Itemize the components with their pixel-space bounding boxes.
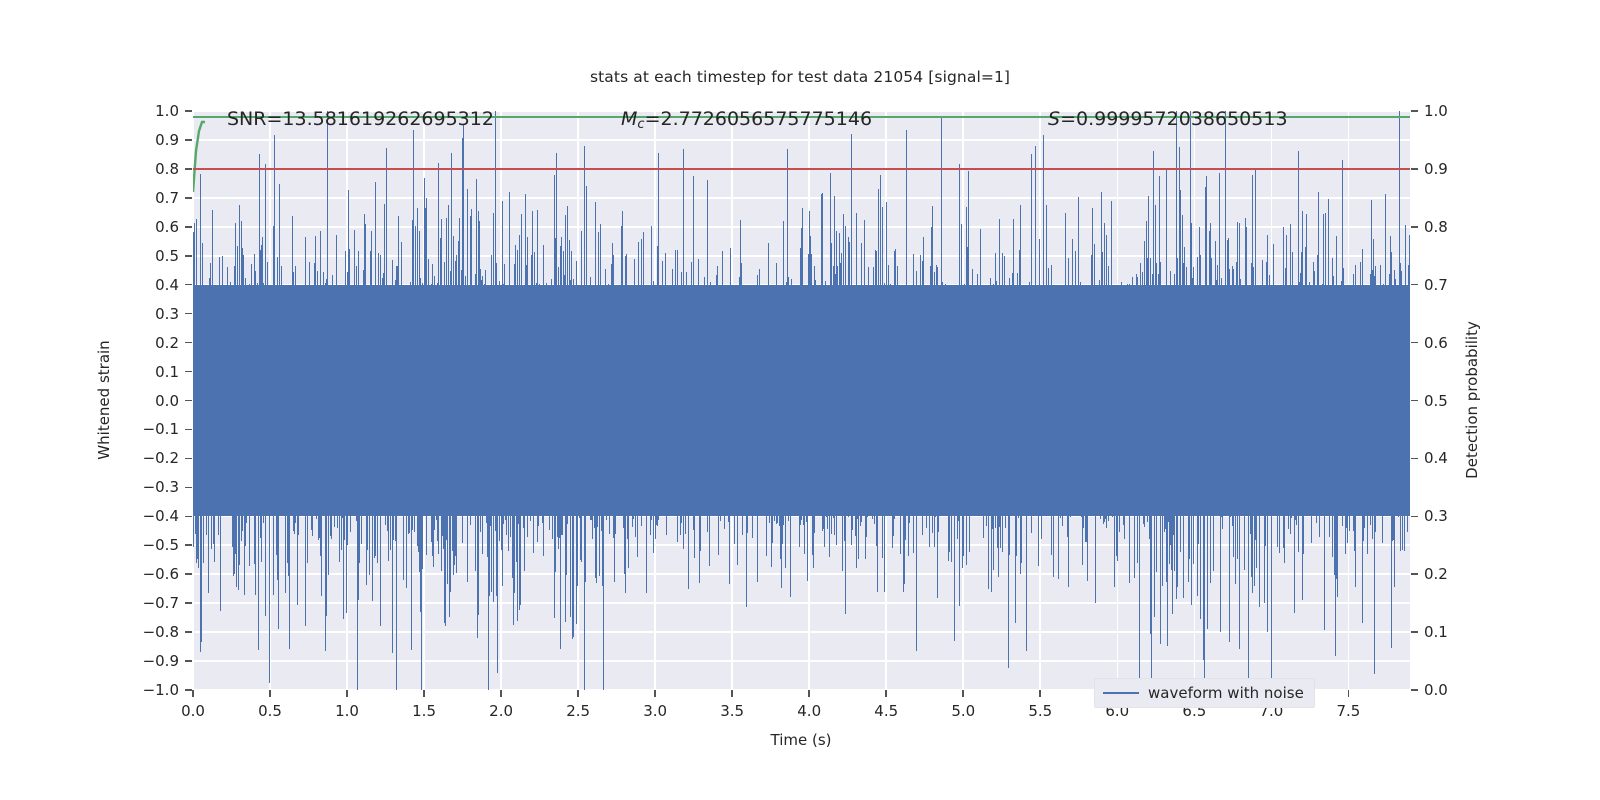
x-axis-tick-mark bbox=[577, 690, 579, 697]
x-axis-tick-mark bbox=[808, 690, 810, 697]
y-axis-left-tick-label: −0.9 bbox=[123, 652, 179, 670]
s-label: S bbox=[1048, 111, 1060, 130]
x-axis-tick-label: 1.5 bbox=[412, 702, 436, 720]
y-axis-left-tick-mark bbox=[185, 429, 192, 431]
y-axis-right-tick-label: 0.4 bbox=[1424, 449, 1448, 467]
y-axis-left-tick-label: 0.9 bbox=[123, 131, 179, 149]
y-axis-right-tick-label: 0.0 bbox=[1424, 681, 1448, 699]
x-axis-tick-label: 4.5 bbox=[874, 702, 898, 720]
y-axis-left-tick-mark bbox=[185, 602, 192, 604]
y-axis-left-tick-label: −1.0 bbox=[123, 681, 179, 699]
x-axis-tick-mark bbox=[654, 690, 656, 697]
y-axis-right-tick-label: 0.6 bbox=[1424, 334, 1448, 352]
snr-label: SNR= bbox=[227, 111, 282, 130]
y-axis-left-tick-mark bbox=[185, 255, 192, 257]
y-axis-left-tick-label: −0.3 bbox=[123, 478, 179, 496]
y-axis-left-tick-label: −0.2 bbox=[123, 449, 179, 467]
y-axis-right-tick-label: 0.2 bbox=[1424, 565, 1448, 583]
x-axis-tick-label: 4.0 bbox=[797, 702, 821, 720]
y-axis-left-tick-label: −0.8 bbox=[123, 623, 179, 641]
y-axis-left-tick-label: 0.3 bbox=[123, 305, 179, 323]
y-axis-left-tick-mark bbox=[185, 110, 192, 112]
x-axis-tick-label: 3.5 bbox=[720, 702, 744, 720]
y-axis-right-label: Detection probability bbox=[1463, 321, 1481, 479]
s-equals: = bbox=[1060, 111, 1076, 130]
x-axis-tick-label: 5.5 bbox=[1028, 702, 1052, 720]
x-axis-tick-label: 7.5 bbox=[1336, 702, 1360, 720]
y-axis-left-tick-label: −0.4 bbox=[123, 507, 179, 525]
y-axis-right-tick-label: 0.8 bbox=[1424, 218, 1448, 236]
plot-area[interactable]: SNR=13.581619262695312 Mc=2.772605657577… bbox=[193, 111, 1410, 690]
x-axis-tick-label: 0.5 bbox=[258, 702, 282, 720]
x-axis-tick-label: 1.0 bbox=[335, 702, 359, 720]
s-value: 0.9999572038650513 bbox=[1076, 111, 1288, 130]
y-axis-right-tick-mark bbox=[1411, 458, 1418, 460]
y-axis-left-tick-mark bbox=[185, 544, 192, 546]
y-axis-right-tick-mark bbox=[1411, 400, 1418, 402]
y-axis-left-tick-label: −0.6 bbox=[123, 565, 179, 583]
y-axis-left-tick-label: 0.6 bbox=[123, 218, 179, 236]
y-axis-left-tick-label: 0.8 bbox=[123, 160, 179, 178]
y-axis-left-tick-mark bbox=[185, 139, 192, 141]
annotation-chirp-mass: Mc=2.7726056575775146 bbox=[621, 111, 872, 132]
y-axis-left-tick-mark bbox=[185, 371, 192, 373]
y-axis-left-tick-mark bbox=[185, 342, 192, 344]
annotation-score: S=0.9999572038650513 bbox=[1048, 111, 1288, 130]
y-axis-left-label: Whitened strain bbox=[95, 340, 113, 459]
threshold-line bbox=[193, 168, 1410, 170]
y-axis-left-tick-label: 0.2 bbox=[123, 334, 179, 352]
y-axis-left-tick-mark bbox=[185, 573, 192, 575]
y-axis-left-tick-mark bbox=[185, 487, 192, 489]
x-axis-tick-mark bbox=[962, 690, 964, 697]
y-axis-left-tick-label: 0.7 bbox=[123, 189, 179, 207]
y-axis-right-tick-label: 0.9 bbox=[1424, 160, 1448, 178]
x-axis-tick-mark bbox=[1348, 690, 1350, 697]
y-axis-right-tick-mark bbox=[1411, 516, 1418, 518]
y-axis-left-tick-label: −0.7 bbox=[123, 594, 179, 612]
y-axis-left-tick-mark bbox=[185, 197, 192, 199]
y-axis-left-tick-label: 0.0 bbox=[123, 392, 179, 410]
waveform-sample bbox=[1409, 235, 1410, 517]
mc-subscript: c bbox=[637, 117, 644, 132]
y-axis-left-tick-mark bbox=[185, 689, 192, 691]
x-axis-tick-mark bbox=[731, 690, 733, 697]
y-axis-left-tick-label: 0.4 bbox=[123, 276, 179, 294]
y-axis-left-tick-label: −0.1 bbox=[123, 420, 179, 438]
x-axis-tick-mark bbox=[269, 690, 271, 697]
y-axis-right-tick-mark bbox=[1411, 168, 1418, 170]
x-axis-tick-mark bbox=[500, 690, 502, 697]
y-axis-right-tick-mark bbox=[1411, 226, 1418, 228]
annotation-snr: SNR=13.581619262695312 bbox=[227, 111, 494, 130]
y-axis-left-tick-mark bbox=[185, 313, 192, 315]
y-axis-right-tick-label: 0.3 bbox=[1424, 507, 1448, 525]
y-axis-right-tick-label: 0.1 bbox=[1424, 623, 1448, 641]
mc-value: 2.7726056575775146 bbox=[660, 111, 872, 130]
y-axis-right-tick-mark bbox=[1411, 342, 1418, 344]
x-axis-tick-label: 2.0 bbox=[489, 702, 513, 720]
y-axis-left-tick-mark bbox=[185, 516, 192, 518]
x-axis-tick-label: 2.5 bbox=[566, 702, 590, 720]
y-axis-left-tick-label: 1.0 bbox=[123, 102, 179, 120]
y-axis-left-tick-mark bbox=[185, 660, 192, 662]
y-axis-left-tick-mark bbox=[185, 284, 192, 286]
y-axis-left-tick-mark bbox=[185, 400, 192, 402]
y-axis-left-tick-label: 0.1 bbox=[123, 363, 179, 381]
mc-equals: = bbox=[645, 111, 661, 130]
x-axis-label: Time (s) bbox=[771, 731, 832, 749]
mc-label: M bbox=[621, 111, 637, 130]
y-axis-right-tick-mark bbox=[1411, 631, 1418, 633]
snr-value: 13.581619262695312 bbox=[282, 111, 494, 130]
figure: stats at each timestep for test data 210… bbox=[0, 0, 1600, 800]
x-axis-tick-mark bbox=[192, 690, 194, 697]
y-axis-right-tick-mark bbox=[1411, 573, 1418, 575]
y-axis-left-tick-label: 0.5 bbox=[123, 247, 179, 265]
y-axis-right-tick-label: 0.5 bbox=[1424, 392, 1448, 410]
y-axis-right-tick-mark bbox=[1411, 284, 1418, 286]
x-axis-tick-label: 0.0 bbox=[181, 702, 205, 720]
x-axis-tick-mark bbox=[423, 690, 425, 697]
y-axis-right-tick-mark bbox=[1411, 110, 1418, 112]
legend-label-waveform: waveform with noise bbox=[1148, 684, 1304, 702]
detection-probability-ramp bbox=[193, 111, 213, 690]
x-axis-tick-label: 3.0 bbox=[643, 702, 667, 720]
y-axis-left-tick-mark bbox=[185, 226, 192, 228]
y-axis-left-tick-mark bbox=[185, 168, 192, 170]
x-axis-tick-mark bbox=[885, 690, 887, 697]
x-axis-tick-label: 5.0 bbox=[951, 702, 975, 720]
legend-swatch-waveform bbox=[1103, 692, 1139, 694]
legend[interactable]: waveform with noise bbox=[1094, 678, 1315, 708]
y-axis-left-tick-label: −0.5 bbox=[123, 536, 179, 554]
x-axis-tick-mark bbox=[1039, 690, 1041, 697]
y-axis-right-tick-label: 0.7 bbox=[1424, 276, 1448, 294]
waveform-series bbox=[193, 111, 1410, 690]
y-axis-right-tick-mark bbox=[1411, 689, 1418, 691]
x-axis-tick-mark bbox=[346, 690, 348, 697]
y-axis-left-tick-mark bbox=[185, 458, 192, 460]
y-axis-left-tick-mark bbox=[185, 631, 192, 633]
y-axis-right-tick-label: 1.0 bbox=[1424, 102, 1448, 120]
page-title: stats at each timestep for test data 210… bbox=[0, 68, 1600, 86]
